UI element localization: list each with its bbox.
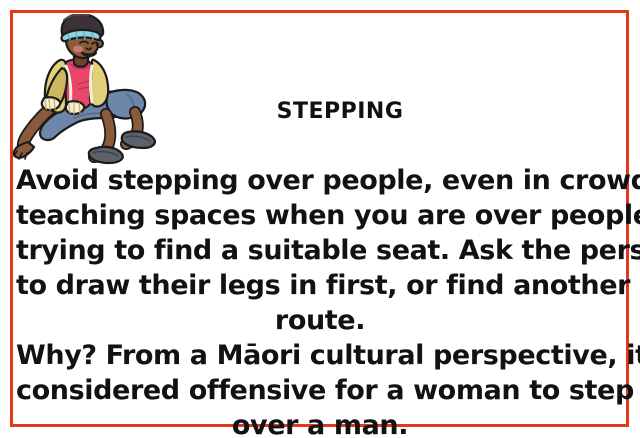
body-line: to draw their legs in first, or find ano…	[16, 268, 624, 303]
body-line: trying to find a suitable seat. Ask the …	[16, 233, 624, 268]
body-line: over a man.	[16, 408, 624, 438]
seated-woman-illustration	[8, 14, 188, 166]
poster-body-text: Avoid stepping over people, even in crow…	[16, 163, 624, 438]
body-line: considered offensive for a woman to step	[16, 373, 624, 408]
body-line: route.	[16, 303, 624, 338]
body-line: Avoid stepping over people, even in crow…	[16, 163, 624, 198]
body-line: Why? From a Māori cultural perspective, …	[16, 338, 624, 373]
poster-canvas: STEPPING Avoid stepping over people, eve…	[0, 0, 640, 438]
body-line: teaching spaces when you are over people	[16, 198, 624, 233]
page-title: STEPPING	[190, 99, 490, 124]
